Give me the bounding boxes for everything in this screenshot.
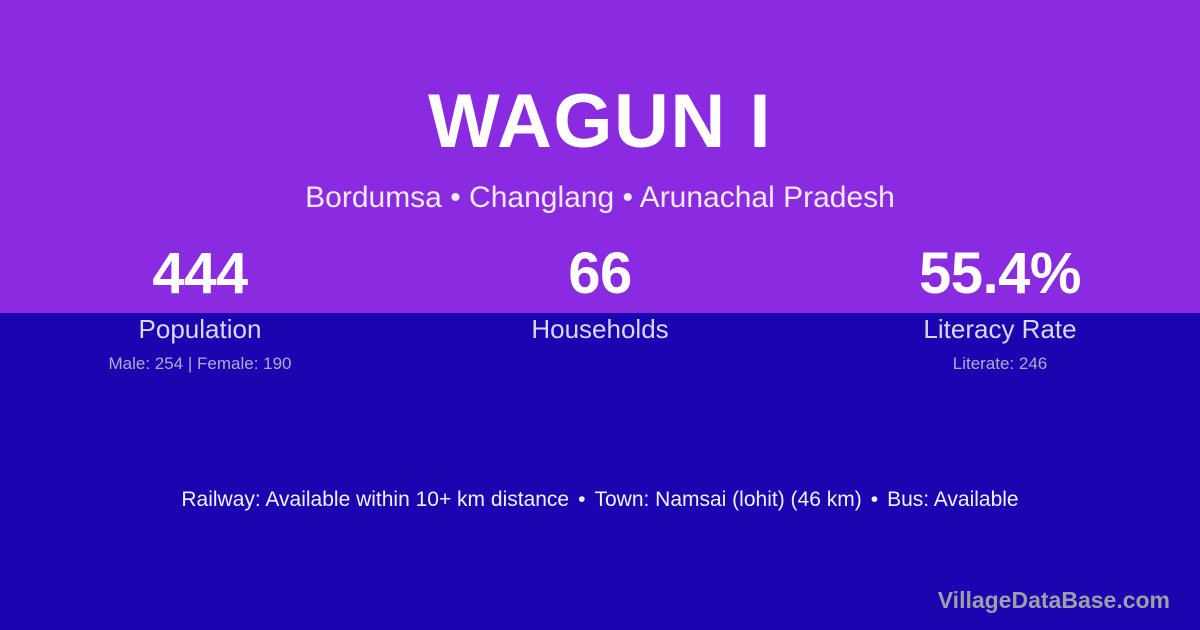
stat-sublabel: Male: 254 | Female: 190 [0, 353, 400, 375]
stats-row: 444 Population Male: 254 | Female: 190 6… [0, 243, 1200, 375]
facility-railway: Railway: Available within 10+ km distanc… [181, 488, 569, 511]
stat-label: Literacy Rate [800, 313, 1200, 345]
stat-sublabel: Literate: 246 [800, 353, 1200, 375]
facility-bus: Bus: Available [887, 488, 1019, 511]
page-title: WAGUN I [0, 84, 1200, 160]
stat-label: Households [400, 313, 800, 345]
stat-literacy-rate: 55.4% Literacy Rate Literate: 246 [800, 243, 1200, 375]
stat-households: 66 Households [400, 243, 800, 375]
stat-value: 55.4% [800, 243, 1200, 305]
site-credit: VillageDataBase.com [938, 586, 1170, 614]
village-info-card: WAGUN I Bordumsa • Changlang • Arunachal… [0, 0, 1200, 630]
facility-separator: • [569, 488, 594, 511]
facility-separator: • [862, 488, 887, 511]
facilities-summary: Railway: Available within 10+ km distanc… [0, 486, 1200, 514]
stat-population: 444 Population Male: 254 | Female: 190 [0, 243, 400, 375]
facility-town: Town: Namsai (lohit) (46 km) [594, 488, 861, 511]
stat-sublabel [400, 353, 800, 375]
stat-label: Population [0, 313, 400, 345]
stat-value: 66 [400, 243, 800, 305]
breadcrumb: Bordumsa • Changlang • Arunachal Pradesh [0, 180, 1200, 216]
stat-value: 444 [0, 243, 400, 305]
